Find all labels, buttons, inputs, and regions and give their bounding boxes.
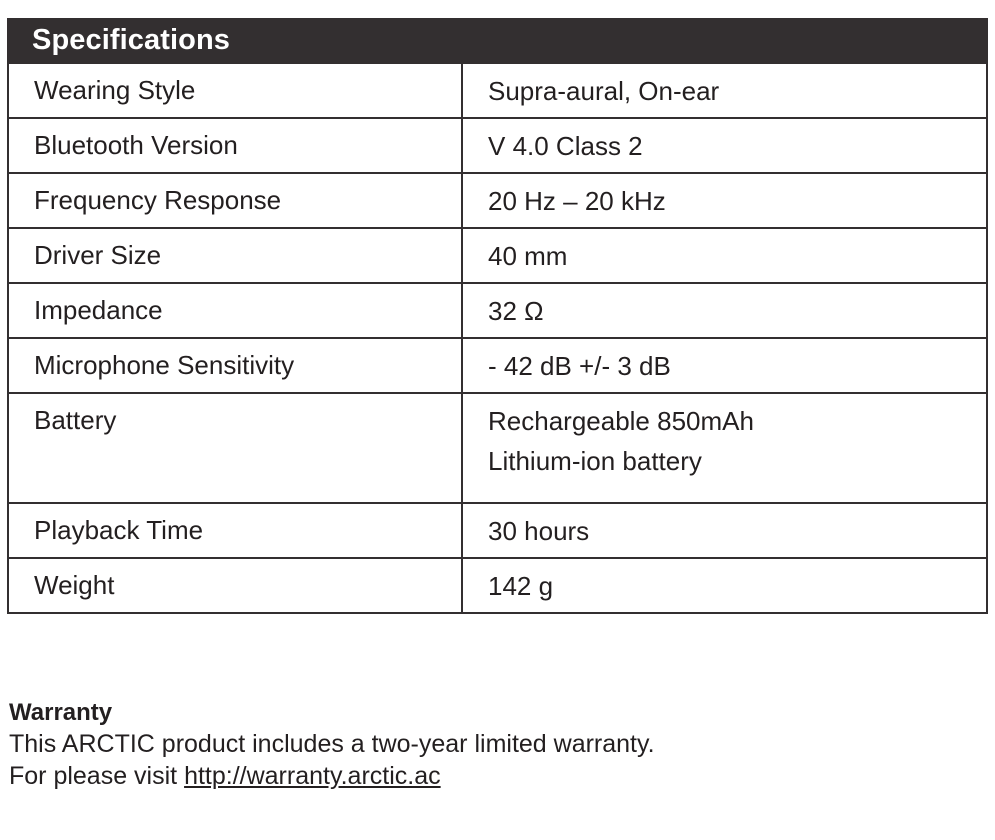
spec-value-line: Lithium-ion battery <box>488 441 986 481</box>
spec-value-text: 30 hours <box>488 504 986 551</box>
spec-label-text: Frequency Response <box>34 174 461 219</box>
spec-value-cell: 20 Hz – 20 kHz <box>462 173 987 228</box>
specifications-page: Specifications Wearing StyleSupra-aural,… <box>0 0 995 840</box>
table-row: Playback Time30 hours <box>8 503 987 558</box>
spec-value-cell: - 42 dB +/- 3 dB <box>462 338 987 393</box>
spec-label-cell: Wearing Style <box>8 63 462 118</box>
table-row: BatteryRechargeable 850mAhLithium-ion ba… <box>8 393 987 503</box>
spec-value-line: 40 mm <box>488 236 986 276</box>
table-row: Microphone Sensitivity- 42 dB +/- 3 dB <box>8 338 987 393</box>
spec-label-cell: Bluetooth Version <box>8 118 462 173</box>
spec-label-text: Microphone Sensitivity <box>34 339 461 384</box>
spec-label-text: Battery <box>34 394 461 439</box>
warranty-heading: Warranty <box>9 698 909 728</box>
spec-value-cell: V 4.0 Class 2 <box>462 118 987 173</box>
spec-label-cell: Frequency Response <box>8 173 462 228</box>
spec-value-line: V 4.0 Class 2 <box>488 126 986 166</box>
spec-label-cell: Playback Time <box>8 503 462 558</box>
spec-value-text: 142 g <box>488 559 986 606</box>
warranty-text-line-1: This ARCTIC product includes a two-year … <box>9 728 909 760</box>
warranty-section: Warranty This ARCTIC product includes a … <box>9 698 909 792</box>
spec-value-cell: 30 hours <box>462 503 987 558</box>
spec-value-cell: Rechargeable 850mAhLithium-ion battery <box>462 393 987 503</box>
spec-value-line: Rechargeable 850mAh <box>488 401 986 441</box>
warranty-text-prefix: For please visit <box>9 762 184 790</box>
specifications-table: Wearing StyleSupra-aural, On-earBluetoot… <box>7 62 988 614</box>
specifications-table-block: Specifications Wearing StyleSupra-aural,… <box>7 18 988 614</box>
spec-value-cell: 40 mm <box>462 228 987 283</box>
table-row: Impedance32 Ω <box>8 283 987 338</box>
spec-value-line: 20 Hz – 20 kHz <box>488 181 986 221</box>
spec-value-line: 142 g <box>488 566 986 606</box>
spec-label-text: Wearing Style <box>34 64 461 109</box>
spec-value-cell: 142 g <box>462 558 987 613</box>
spec-value-text: Supra-aural, On-ear <box>488 64 986 111</box>
spec-value-text: Rechargeable 850mAhLithium-ion battery <box>488 394 986 481</box>
spec-value-line: 32 Ω <box>488 291 986 331</box>
table-row: Wearing StyleSupra-aural, On-ear <box>8 63 987 118</box>
spec-label-cell: Weight <box>8 558 462 613</box>
spec-value-line: Supra-aural, On-ear <box>488 71 986 111</box>
spec-value-text: V 4.0 Class 2 <box>488 119 986 166</box>
table-row: Frequency Response20 Hz – 20 kHz <box>8 173 987 228</box>
warranty-text-line-2: For please visit http://warranty.arctic.… <box>9 760 909 792</box>
table-row: Driver Size40 mm <box>8 228 987 283</box>
spec-label-text: Weight <box>34 559 461 604</box>
spec-label-text: Playback Time <box>34 504 461 549</box>
specifications-header-bar: Specifications <box>7 18 988 62</box>
page-title: Specifications <box>32 26 230 55</box>
spec-label-cell: Impedance <box>8 283 462 338</box>
spec-value-text: - 42 dB +/- 3 dB <box>488 339 986 386</box>
spec-value-text: 20 Hz – 20 kHz <box>488 174 986 221</box>
spec-value-cell: Supra-aural, On-ear <box>462 63 987 118</box>
spec-value-text: 32 Ω <box>488 284 986 331</box>
warranty-url-link[interactable]: http://warranty.arctic.ac <box>184 762 441 790</box>
spec-label-cell: Driver Size <box>8 228 462 283</box>
spec-value-line: 30 hours <box>488 511 986 551</box>
spec-label-text: Driver Size <box>34 229 461 274</box>
spec-label-cell: Battery <box>8 393 462 503</box>
specifications-table-body: Wearing StyleSupra-aural, On-earBluetoot… <box>8 63 987 613</box>
spec-label-text: Bluetooth Version <box>34 119 461 164</box>
spec-label-text: Impedance <box>34 284 461 329</box>
spec-label-cell: Microphone Sensitivity <box>8 338 462 393</box>
spec-value-text: 40 mm <box>488 229 986 276</box>
table-row: Weight142 g <box>8 558 987 613</box>
spec-value-line: - 42 dB +/- 3 dB <box>488 346 986 386</box>
table-row: Bluetooth VersionV 4.0 Class 2 <box>8 118 987 173</box>
spec-value-cell: 32 Ω <box>462 283 987 338</box>
